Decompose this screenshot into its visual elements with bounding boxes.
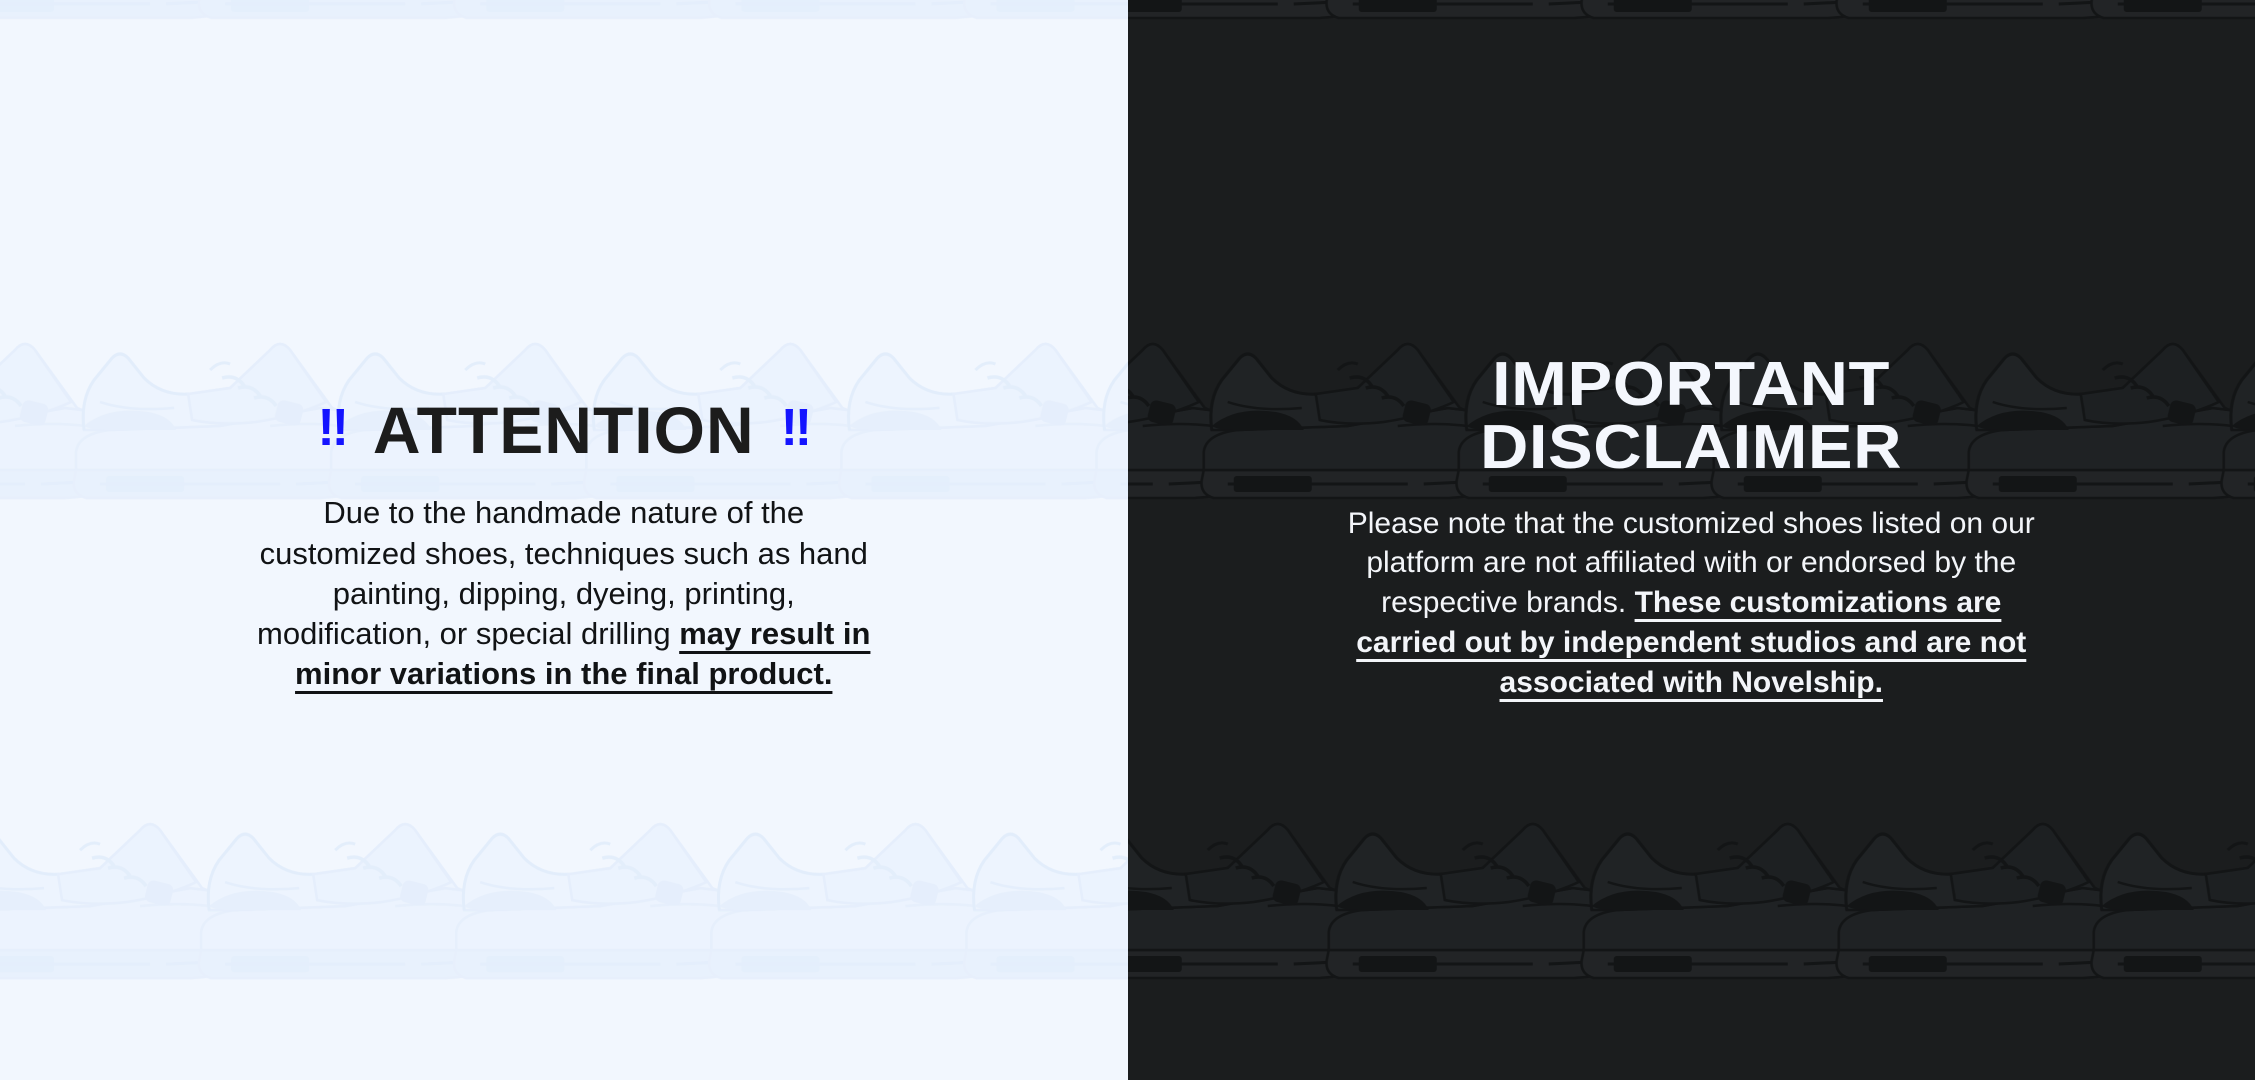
attention-heading-word: ATTENTION (373, 397, 755, 463)
attention-body: Due to the handmade nature of the custom… (254, 493, 874, 694)
attention-content: ‼ ATTENTION ‼ Due to the handmade nature… (0, 397, 1128, 694)
disclaimer-content: IMPORTANT DISCLAIMER Please note that th… (1128, 353, 2255, 703)
attention-panel: ‼ ATTENTION ‼ Due to the handmade nature… (0, 0, 1128, 1080)
disclaimer-body: Please note that the customized shoes li… (1341, 504, 2041, 703)
disclaimer-heading: IMPORTANT DISCLAIMER (1331, 353, 2051, 479)
disclaimer-banner: ‼ ATTENTION ‼ Due to the handmade nature… (0, 0, 2255, 1080)
disclaimer-heading-line-1: IMPORTANT (1302, 353, 2080, 416)
attention-heading: ‼ ATTENTION ‼ (317, 397, 810, 463)
double-exclamation-right-icon: ‼ (781, 402, 810, 454)
double-exclamation-left-icon: ‼ (317, 402, 346, 454)
disclaimer-panel: IMPORTANT DISCLAIMER Please note that th… (1128, 0, 2255, 1080)
disclaimer-heading-line-2: DISCLAIMER (1302, 416, 2080, 479)
